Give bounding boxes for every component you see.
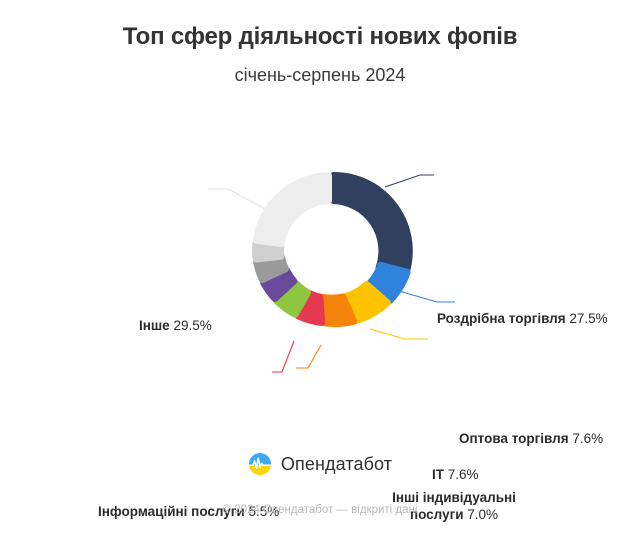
leader-line-wholesale: [399, 291, 455, 302]
slice-label-inshe-name: Інше: [139, 318, 170, 333]
copyright-footnote: © 2024 Опендатабот — відкриті дані: [0, 504, 640, 516]
slice-label-retail: Роздрібна торгівля 27.5%: [437, 310, 608, 327]
slice-label-inshe: Інше 29.5%: [139, 317, 212, 334]
brand-lockup: Опендатабот: [0, 452, 640, 476]
callout-lines: [208, 175, 455, 372]
page-subtitle: січень-серпень 2024: [0, 63, 640, 87]
slice-label-inshe-value: 29.5%: [173, 318, 211, 333]
leader-line-inshe: [208, 189, 267, 210]
slice-label-wholesale-name: Оптова торгівля: [459, 431, 569, 446]
chart-header: Топ сфер діяльності нових фопів січень-с…: [0, 22, 640, 87]
infographic-canvas: Топ сфер діяльності нових фопів січень-с…: [0, 0, 640, 533]
donut-segments: [256, 175, 410, 323]
slice-label-wholesale: Оптова торгівля 7.6%: [459, 430, 603, 447]
slice-label-wholesale-value: 7.6%: [572, 431, 603, 446]
leader-line-info: [272, 341, 294, 372]
leader-line-it: [370, 329, 428, 339]
leader-line-other-individual: [296, 345, 321, 368]
opendatabot-logo-icon: [248, 452, 272, 476]
donut-slice-inshe: [256, 176, 328, 244]
donut-chart: Роздрібна торгівля 27.5% Оптова торгівля…: [0, 130, 640, 430]
slice-label-retail-name: Роздрібна торгівля: [437, 311, 566, 326]
page-title: Топ сфер діяльності нових фопів: [0, 22, 640, 52]
leader-line-retail: [385, 175, 434, 187]
brand-name: Опендатабот: [281, 454, 392, 475]
donut-slice-retail: [334, 175, 410, 275]
slice-label-retail-value: 27.5%: [569, 311, 607, 326]
donut-chart-svg: [0, 130, 640, 430]
